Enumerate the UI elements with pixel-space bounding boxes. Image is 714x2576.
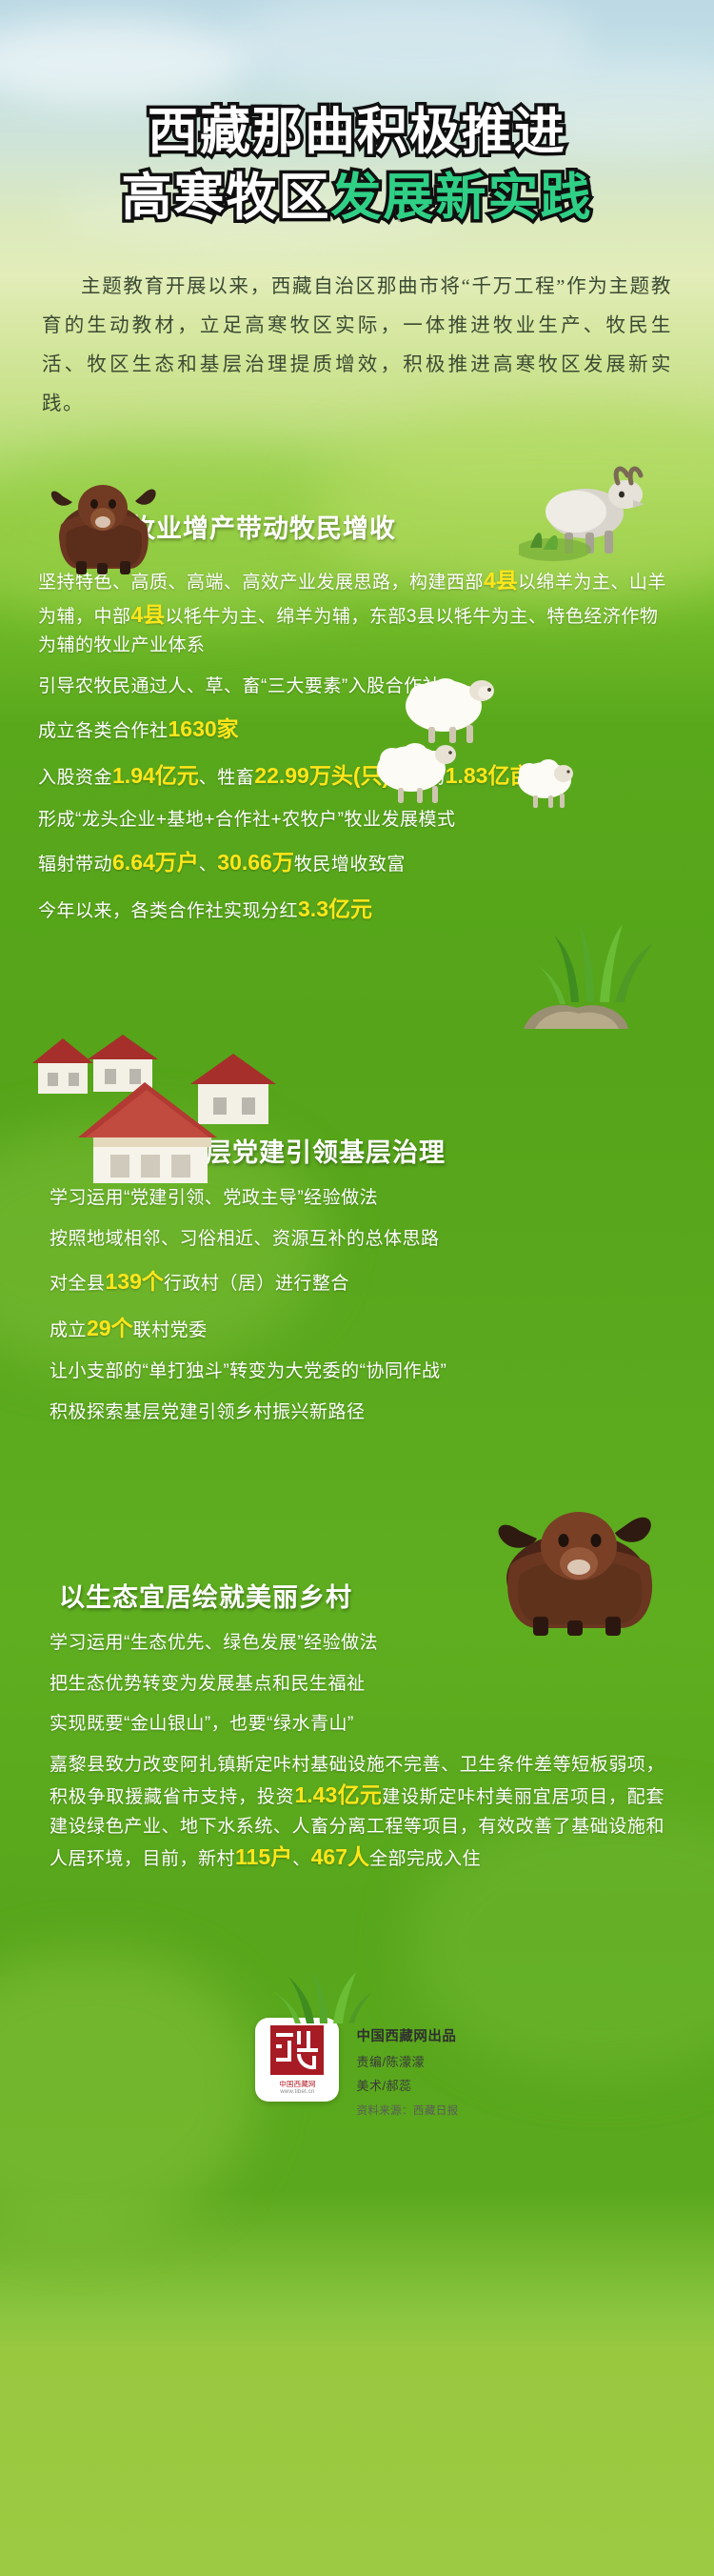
- seal-logo-icon: [268, 2023, 326, 2077]
- highlight-number: 4县: [484, 568, 518, 593]
- section-1-line: 今年以来，各类合作社实现分红3.3亿元: [38, 893, 676, 927]
- body-text: 坚持特色、高质、高端、高效产业发展思路，构建西部: [38, 573, 484, 593]
- body-text: 积极探索基层党建引领乡村振兴新路径: [50, 1402, 366, 1422]
- title-line-1: 西藏那曲积极推进: [0, 103, 714, 163]
- infographic-poster: 西藏那曲积极推进 高寒牧区发展新实践 主题教育开展以来，西藏自治区那曲市将“千万…: [0, 0, 714, 2576]
- logo-url: www.tibet.cn: [280, 2089, 314, 2095]
- footer-editor: 责编/陈濛濛: [356, 2052, 458, 2070]
- section-3-heading: 以生态宜居绘就美丽乡村: [59, 1525, 714, 1614]
- body-text: 、草场: [389, 768, 446, 788]
- body-text: 让小支部的“单打独斗”转变为大党委的“协同作战”: [50, 1361, 446, 1381]
- section-3-line: 实现既要“金山银山”，也要“绿水青山”: [50, 1710, 664, 1738]
- section-livestock: 以牧业增产带动牧民增收 坚持特色、高质、高端、高效产业发展思路，构建西部4县以绵…: [0, 458, 714, 926]
- highlight-number: 1.83亿亩: [446, 763, 532, 788]
- section-3-line: 学习运用“生态优先、绿色发展”经验做法: [50, 1629, 664, 1657]
- section-3-line: 嘉黎县致力改变阿扎镇斯定咔村基础设施不完善、卫生条件差等短板弱项，积极争取援藏省…: [50, 1751, 664, 1875]
- section-1-line: 成立各类合作社1630家: [38, 713, 676, 747]
- highlight-number: 6.64万户: [112, 850, 199, 875]
- footer-art: 美术/郝蕊: [356, 2076, 458, 2094]
- highlight-number: 1.43亿元: [295, 1782, 383, 1807]
- tibet-net-logo: 中国西藏网 www.tibet.cn: [255, 2018, 339, 2102]
- body-text: 辐射带动: [38, 855, 112, 875]
- highlight-number: 3.3亿元: [298, 896, 372, 921]
- body-text: 、: [199, 855, 218, 875]
- highlight-number: 1.94亿元: [112, 763, 199, 788]
- section-2-line: 让小支部的“单打独斗”转变为大党委的“协同作战”: [50, 1358, 664, 1385]
- highlight-number: 115户: [235, 1844, 292, 1869]
- section-1-line: 入股资金1.94亿元、牲畜22.99万头(只)、草场1.83亿亩: [38, 759, 676, 794]
- body-text: 实现既要“金山银山”，也要“绿水青山”: [50, 1714, 354, 1734]
- footer-source: 资料来源：西藏日报: [356, 2103, 458, 2118]
- body-text: 形成“龙头企业+基地+合作社+农牧户”牧业发展模式: [38, 810, 455, 830]
- section-1-body: 坚持特色、高质、高端、高效产业发展思路，构建西部4县以绵羊为主、山羊为辅，中部4…: [38, 564, 676, 926]
- grass-tuft-illustration: [268, 1968, 373, 2025]
- logo-caption: 中国西藏网: [279, 2079, 316, 2089]
- section-ecology: 以生态宜居绘就美丽乡村 学习运用“生态优先、绿色发展”经验做法把生态优势转变为发…: [0, 1525, 714, 1874]
- body-text: 联村党委: [133, 1320, 208, 1340]
- section-2-heading: 以基层党建引领基层治理: [152, 1040, 714, 1169]
- section-2-line: 成立29个联村党委: [50, 1312, 664, 1346]
- body-text: 今年以来，各类合作社实现分红: [38, 901, 298, 921]
- highlight-number: 22.99万头(只): [254, 763, 389, 788]
- body-text: 全部完成入住: [369, 1849, 481, 1869]
- highlight-number: 139个: [106, 1269, 164, 1294]
- body-text: 牧民增收致富: [294, 855, 406, 875]
- highlight-number: 467人: [311, 1844, 369, 1869]
- section-2-body: 学习运用“党建引领、党政主导”经验做法按照地域相邻、习俗相近、资源互补的总体思路…: [50, 1184, 664, 1426]
- section-2-line: 对全县139个行政村（居）进行整合: [50, 1265, 664, 1299]
- body-text: 成立: [50, 1320, 87, 1340]
- section-party-building: 以基层党建引领基层治理 学习运用“党建引领、党政主导”经验做法按照地域相邻、习俗…: [0, 1040, 714, 1426]
- section-2-line: 积极探索基层党建引领乡村振兴新路径: [50, 1399, 664, 1426]
- footer-brand: 中国西藏网出品: [356, 2025, 458, 2045]
- body-text: 学习运用“党建引领、党政主导”经验做法: [50, 1188, 378, 1208]
- title-line-2-highlight: 发展新实践: [331, 169, 593, 227]
- poster-footer: 中国西藏网 www.tibet.cn 中国西藏网出品 责编/陈濛濛 美术/郝蕊 …: [0, 2018, 714, 2175]
- highlight-number: 1630家: [169, 716, 239, 741]
- section-2-line: 按照地域相邻、习俗相近、资源互补的总体思路: [50, 1225, 664, 1253]
- footer-credits: 中国西藏网出品 责编/陈濛濛 美术/郝蕊 资料来源：西藏日报: [356, 2018, 458, 2118]
- intro-paragraph: 主题教育开展以来，西藏自治区那曲市将“千万工程”作为主题教育的生动教材，立足高寒…: [42, 268, 672, 424]
- body-text: 成立各类合作社: [38, 721, 169, 741]
- section-3-line: 把生态优势转变为发展基点和民生福祉: [50, 1670, 664, 1698]
- highlight-number: 30.66万: [217, 850, 294, 875]
- section-1-line: 引导农牧民通过人、草、畜“三大要素”入股合作社: [38, 673, 676, 700]
- section-1-line: 坚持特色、高质、高端、高效产业发展思路，构建西部4县以绵羊为主、山羊为辅，中部4…: [38, 564, 676, 660]
- body-text: 学习运用“生态优先、绿色发展”经验做法: [50, 1633, 378, 1653]
- poster-title: 西藏那曲积极推进 高寒牧区发展新实践: [0, 0, 714, 228]
- section-3-body: 学习运用“生态优先、绿色发展”经验做法把生态优势转变为发展基点和民生福祉实现既要…: [50, 1629, 664, 1874]
- highlight-number: 29个: [87, 1316, 133, 1340]
- title-line-2-plain: 高寒牧区: [122, 169, 331, 227]
- rock-illustration: [514, 983, 638, 1040]
- title-line-2: 高寒牧区发展新实践: [0, 169, 714, 229]
- body-text: 把生态优势转变为发展基点和民生福祉: [50, 1674, 366, 1694]
- section-2-line: 学习运用“党建引领、党政主导”经验做法: [50, 1184, 664, 1212]
- body-text: 行政村（居）进行整合: [164, 1274, 349, 1294]
- section-1-line: 辐射带动6.64万户、30.66万牧民增收致富: [38, 846, 676, 880]
- section-1-line: 形成“龙头企业+基地+合作社+农牧户”牧业发展模式: [38, 806, 676, 834]
- body-text: 、: [292, 1849, 311, 1869]
- body-text: 引导农牧民通过人、草、畜“三大要素”入股合作社: [38, 676, 441, 696]
- body-text: 、牲畜: [199, 768, 255, 788]
- body-text: 对全县: [50, 1274, 106, 1294]
- highlight-number: 4县: [131, 602, 166, 627]
- section-1-heading: 以牧业增产带动牧民增收: [103, 458, 714, 545]
- body-text: 入股资金: [38, 768, 112, 788]
- body-text: 按照地域相邻、习俗相近、资源互补的总体思路: [50, 1229, 440, 1249]
